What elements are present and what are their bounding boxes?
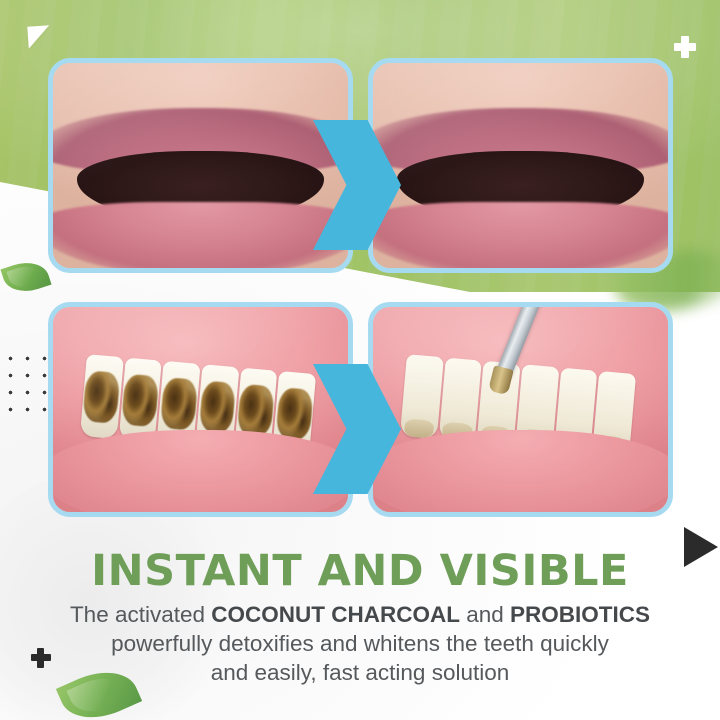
body-copy-line-3: and easily, fast acting solution bbox=[40, 658, 680, 687]
body-copy-line-1: The activated COCONUT CHARCOAL and PROBI… bbox=[40, 600, 680, 629]
white-plus-icon bbox=[674, 36, 696, 58]
panel-before-smile bbox=[48, 58, 353, 273]
lower-lip bbox=[53, 202, 348, 268]
body-copy: The activated COCONUT CHARCOAL and PROBI… bbox=[40, 600, 680, 687]
lower-lip-gum bbox=[53, 430, 348, 512]
photo-tartar-buildup bbox=[53, 307, 348, 512]
body-copy-line-2: powerfully detoxifies and whitens the te… bbox=[40, 629, 680, 658]
lower-lip bbox=[373, 202, 668, 268]
lower-lip-gum bbox=[373, 430, 668, 512]
body-text-mid: and bbox=[460, 602, 510, 627]
photo-cleaned-teeth bbox=[373, 307, 668, 512]
page-title: INSTANT AND VISIBLE bbox=[0, 546, 720, 596]
photo-white-teeth bbox=[373, 63, 668, 268]
ingredient-probiotics: PROBIOTICS bbox=[510, 602, 650, 627]
promo-banner: INSTANT AND VISIBLE The activated COCONU… bbox=[0, 0, 720, 720]
ingredient-coconut-charcoal: COCONUT CHARCOAL bbox=[211, 602, 460, 627]
panel-after-cleaned bbox=[368, 302, 673, 517]
white-triangle-icon bbox=[27, 25, 50, 48]
body-text-pre: The activated bbox=[70, 602, 211, 627]
panel-after-smile bbox=[368, 58, 673, 273]
photo-yellow-stained-teeth bbox=[53, 63, 348, 268]
panel-before-tartar bbox=[48, 302, 353, 517]
